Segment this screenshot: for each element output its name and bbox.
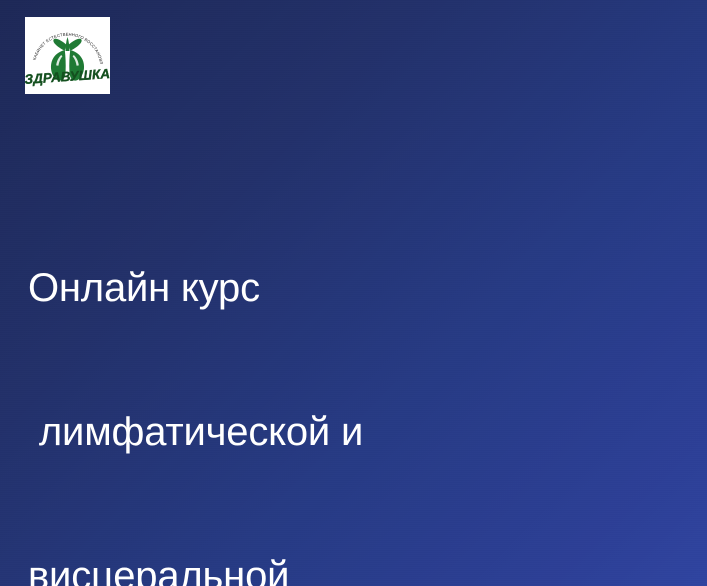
headline-line-1: Онлайн курс [28,264,687,312]
page-title: Онлайн курс лимфатической и висцеральной… [28,168,687,586]
headline-line-3: висцеральной [28,552,687,586]
headline-line-2: лимфатической и [28,408,687,456]
slide-content: Онлайн курс лимфатической и висцеральной… [28,168,687,586]
promo-slide: КАБИНЕТ ЕСТЕСТВЕННОГО ВОССТАНОВЛЕНИЯ ЗДО… [0,0,707,586]
zdravushka-logo: КАБИНЕТ ЕСТЕСТВЕННОГО ВОССТАНОВЛЕНИЯ ЗДО… [25,17,110,94]
